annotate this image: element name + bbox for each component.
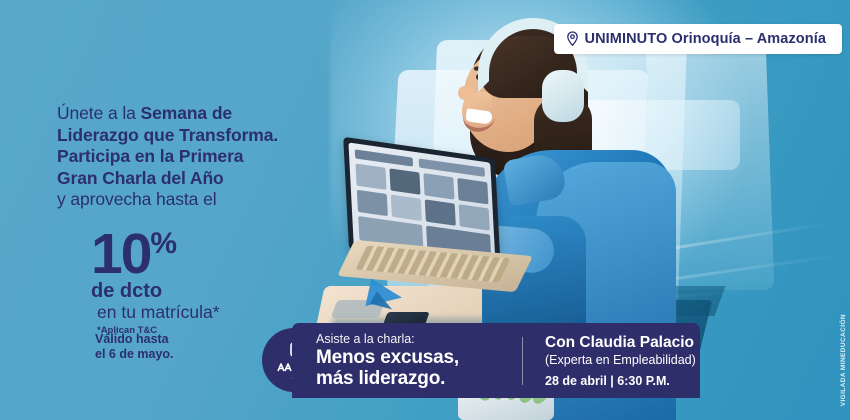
speaker-role: (Experta en Empleabilidad) (545, 352, 696, 368)
discount-scope: en tu matrícula* (97, 302, 317, 323)
offer-block: 10% de dcto en tu matrícula* *Aplican T&… (57, 218, 317, 336)
headline-line1-bold: Semana de (141, 103, 233, 123)
speaker-name: Con Claudia Palacio (545, 333, 696, 352)
validity-line2: el 6 de mayo. (95, 347, 174, 361)
event-datetime: 28 de abril | 6:30 P.M. (545, 373, 696, 389)
cta-title-line1: Menos excusas, (316, 347, 522, 368)
cta-talk-info: Asiste a la charla: Menos excusas, más l… (292, 332, 522, 389)
discount-label: de dcto (91, 280, 317, 302)
cta-title-line2: más liderazgo. (316, 368, 522, 389)
headline: Únete a la Semana de Liderazgo que Trans… (57, 103, 337, 211)
cta-bar: Asiste a la charla: Menos excusas, más l… (292, 323, 700, 398)
headphones-earcup (542, 70, 584, 122)
headline-line4: Gran Charla del Año (57, 168, 224, 188)
location-chip[interactable]: UNIMINUTO Orinoquía – Amazonía (554, 24, 842, 54)
discount-number: 10 (91, 222, 150, 286)
location-chip-label: UNIMINUTO Orinoquía – Amazonía (585, 31, 826, 47)
validity-note: Válido hasta el 6 de mayo. (95, 332, 174, 362)
headline-line5: y aprovecha hasta el (57, 189, 217, 209)
nose (458, 86, 474, 100)
vigilada-mineducacion-watermark: VIGILADA MINEDUCACIÓN (840, 314, 847, 406)
headline-line3: Participa en la Primera (57, 146, 243, 166)
percent-symbol: % (150, 227, 176, 260)
headline-line1-normal: Únete a la (57, 103, 141, 123)
discount-percent: 10% (91, 218, 317, 280)
promo-banner: UNIMINUTO Orinoquía – Amazonía Únete a l… (0, 0, 850, 420)
cta-kicker: Asiste a la charla: (316, 332, 522, 347)
validity-line1: Válido hasta (95, 332, 169, 346)
headline-line2: Liderazgo que Transforma. (57, 125, 278, 145)
location-pin-icon (566, 31, 579, 47)
cta-speaker-info: Con Claudia Palacio (Experta en Empleabi… (523, 333, 696, 389)
